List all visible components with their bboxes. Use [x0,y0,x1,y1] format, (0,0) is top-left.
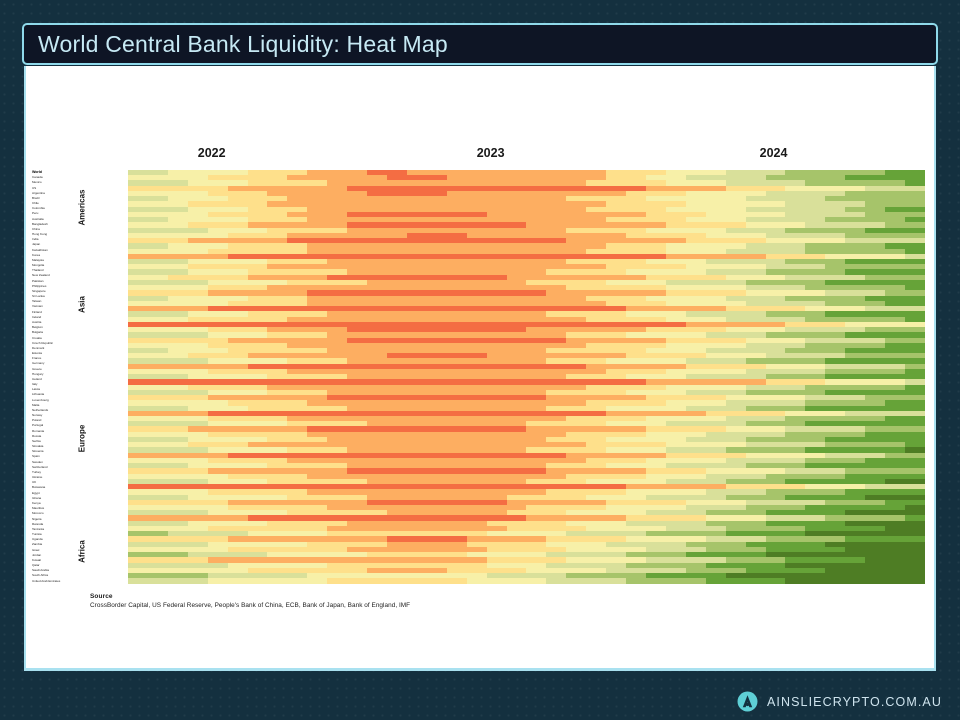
heatmap-cell [546,578,566,583]
heatmap-cell [666,578,686,583]
heatmap-cell [248,578,268,583]
heatmap-cell [287,578,307,583]
region-group-label: Asia [78,284,87,326]
heatmap-cell [507,578,527,583]
heatmap-cell [267,578,287,583]
heatmap-cell [706,578,726,583]
heatmap-cell [307,578,327,583]
heatmap-cell [566,578,586,583]
heatmap-grid [128,170,925,584]
heatmap-cell [646,578,666,583]
heatmap-cell [746,578,766,583]
x-axis-tick-label: 2022 [198,146,226,160]
region-group-label: Africa [78,530,87,572]
x-axis-year-labels: 202220232024 [128,146,925,164]
heatmap-cell [606,578,626,583]
heatmap-cell [785,578,805,583]
heatmap-cell [447,578,467,583]
heatmap-cell [387,578,407,583]
heatmap-cell [885,578,905,583]
region-group-label: Americas [78,187,87,229]
y-axis-country-labels: WorldCanadaMexicoUSArgentinaBrazilChileC… [32,170,76,584]
slide-title-bar: World Central Bank Liquidity: Heat Map [22,23,938,65]
region-group-label: Europe [78,417,87,459]
heatmap-cell [487,578,507,583]
heatmap-cell [407,578,427,583]
source-block: Source CrossBorder Capital, US Federal R… [90,593,690,609]
y-axis-tick-label: United Arab Emirates [32,579,76,584]
heatmap-cell [805,578,825,583]
brand-name: AINSLIECRYPTO.COM.AU [767,695,942,709]
source-heading: Source [90,593,690,600]
slide-root: World Central Bank Liquidity: Heat Map 2… [0,0,960,720]
heatmap-cell [825,578,845,583]
heatmap-cell [905,578,925,583]
heatmap-cell [586,578,606,583]
heatmap-cell [865,578,885,583]
footer-branding: AINSLIECRYPTO.COM.AU [737,691,942,712]
heatmap-row [128,578,925,583]
heatmap-cell [427,578,447,583]
heatmap-cell [128,578,148,583]
heatmap-cell [188,578,208,583]
y-axis-region-group-labels: AmericasAsiaEuropeAfrica [74,170,90,584]
heatmap-cell [347,578,367,583]
source-text: CrossBorder Capital, US Federal Reserve,… [90,602,690,609]
heatmap-cell [327,578,347,583]
x-axis-tick-label: 2023 [477,146,505,160]
heatmap-cell [686,578,706,583]
heatmap-cell [526,578,546,583]
heatmap-cell [626,578,646,583]
heatmap-cell [148,578,168,583]
heatmap-cell [367,578,387,583]
page-title: World Central Bank Liquidity: Heat Map [38,31,448,58]
heatmap-cell [208,578,228,583]
heatmap-cell [467,578,487,583]
heatmap-cell [766,578,786,583]
heatmap-chart: 202220232024 WorldCanadaMexicoUSArgentin… [26,66,934,666]
x-axis-tick-label: 2024 [760,146,788,160]
heatmap-cell [726,578,746,583]
ainslie-a-logo-icon [737,691,758,712]
heatmap-cell [845,578,865,583]
heatmap-cell [168,578,188,583]
heatmap-cell [228,578,248,583]
content-panel: 202220232024 WorldCanadaMexicoUSArgentin… [24,66,936,671]
